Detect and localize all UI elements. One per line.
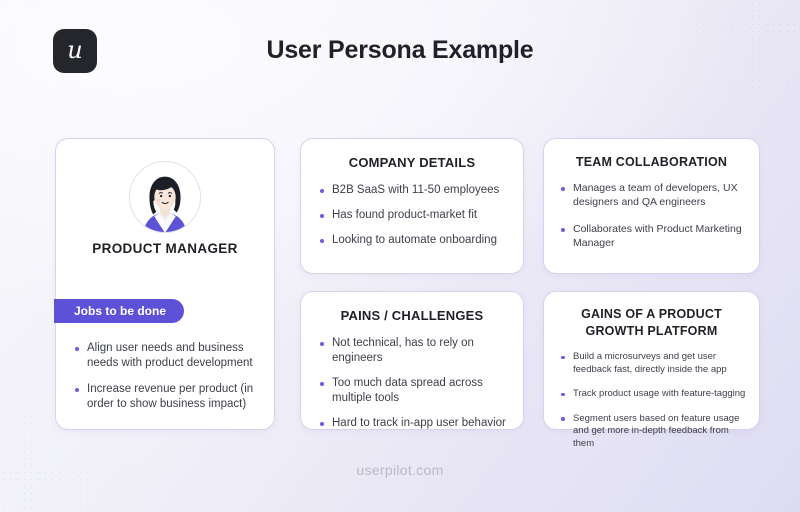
list-item: Has found product-market fit [319,208,509,223]
company-details-list: B2B SaaS with 11-50 employees Has found … [301,170,523,248]
jobs-badge-label: Jobs to be done [74,304,166,318]
list-item: Segment users based on feature usage and… [560,413,747,451]
list-item: Hard to track in-app user behavior [319,416,511,431]
team-collaboration-list: Manages a team of developers, UX designe… [544,169,759,250]
list-item: B2B SaaS with 11-50 employees [319,183,509,198]
pains-challenges-card: PAINS / CHALLENGES Not technical, has to… [300,291,524,430]
avatar [129,161,201,233]
gains-card: GAINS OF A PRODUCT GROWTH PLATFORM Build… [543,291,760,430]
footer-url: userpilot.com [0,462,800,478]
user-persona-infographic: u User Persona Example [0,0,800,512]
card-title: COMPANY DETAILS [301,139,523,170]
list-item: Looking to automate onboarding [319,233,509,248]
card-title: PAINS / CHALLENGES [301,292,523,323]
list-item: Manages a team of developers, UX designe… [560,181,747,209]
company-details-card: COMPANY DETAILS B2B SaaS with 11-50 empl… [300,138,524,274]
jobs-to-be-done-list: Align user needs and business needs with… [74,341,260,412]
persona-role: PRODUCT MANAGER [56,241,274,256]
list-item: Track product usage with feature-tagging [560,388,747,401]
list-item: Increase revenue per product (in order t… [74,382,260,412]
jobs-to-be-done-badge: Jobs to be done [54,299,184,323]
card-title: TEAM COLLABORATION [544,139,759,169]
persona-card: PRODUCT MANAGER Jobs to be done Align us… [55,138,275,430]
pains-challenges-list: Not technical, has to rely on engineers … [301,323,523,431]
list-item: Collaborates with Product Marketing Mana… [560,222,747,250]
list-item: Too much data spread across multiple too… [319,376,511,406]
gains-list: Build a microsurveys and get user feedba… [544,340,759,450]
team-collaboration-card: TEAM COLLABORATION Manages a team of dev… [543,138,760,274]
list-item: Build a microsurveys and get user feedba… [560,351,747,376]
page-title: User Persona Example [0,36,800,65]
card-title: GAINS OF A PRODUCT GROWTH PLATFORM [544,292,759,340]
list-item: Not technical, has to rely on engineers [319,336,511,366]
list-item: Align user needs and business needs with… [74,341,260,371]
